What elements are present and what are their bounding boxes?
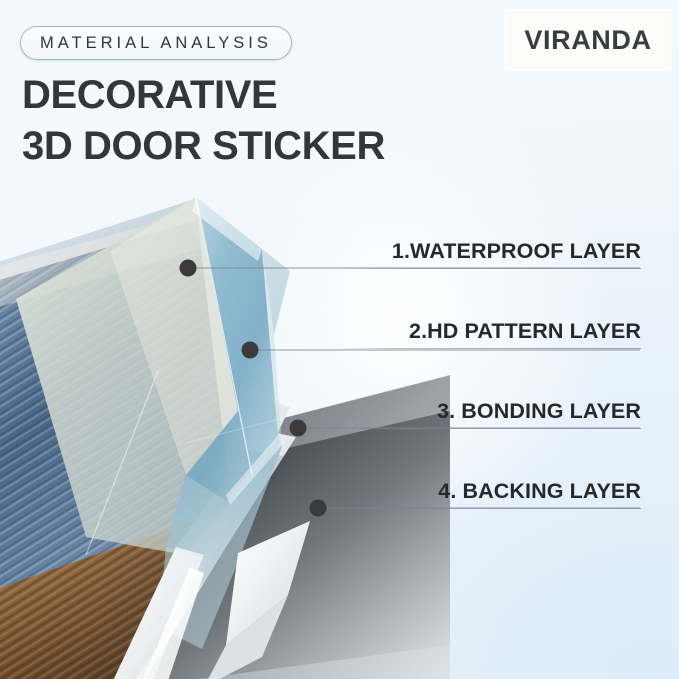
callout-rule-1 [341,268,641,269]
callout-hd-pattern-layer: 2.HD PATTERN LAYER [341,318,641,349]
title-line-1: DECORATIVE [22,70,452,121]
brand-name: VIRANDA [524,25,651,56]
callout-rule-3 [341,428,641,429]
callout-label-1: 1.WATERPROOF LAYER [341,238,641,268]
callout-waterproof-layer: 1.WATERPROOF LAYER [341,238,641,269]
callout-label-3: 3. BONDING LAYER [341,398,641,428]
callout-label-2: 2.HD PATTERN LAYER [341,318,641,348]
callout-label-4: 4. BACKING LAYER [341,478,641,508]
eyebrow-badge: MATERIAL ANALYSIS [20,26,292,60]
page-title: DECORATIVE 3D DOOR STICKER [22,70,452,172]
callout-backing-layer: 4. BACKING LAYER [341,478,641,509]
product-infographic-poster: MATERIAL ANALYSIS DECORATIVE 3D DOOR STI… [0,0,679,679]
callout-rule-2 [341,348,641,349]
callout-bonding-layer: 3. BONDING LAYER [341,398,641,429]
title-line-2: 3D DOOR STICKER [22,121,452,172]
callout-rule-4 [341,508,641,509]
eyebrow-label: MATERIAL ANALYSIS [40,34,272,53]
brand-logo-box: VIRANDA [505,10,671,70]
